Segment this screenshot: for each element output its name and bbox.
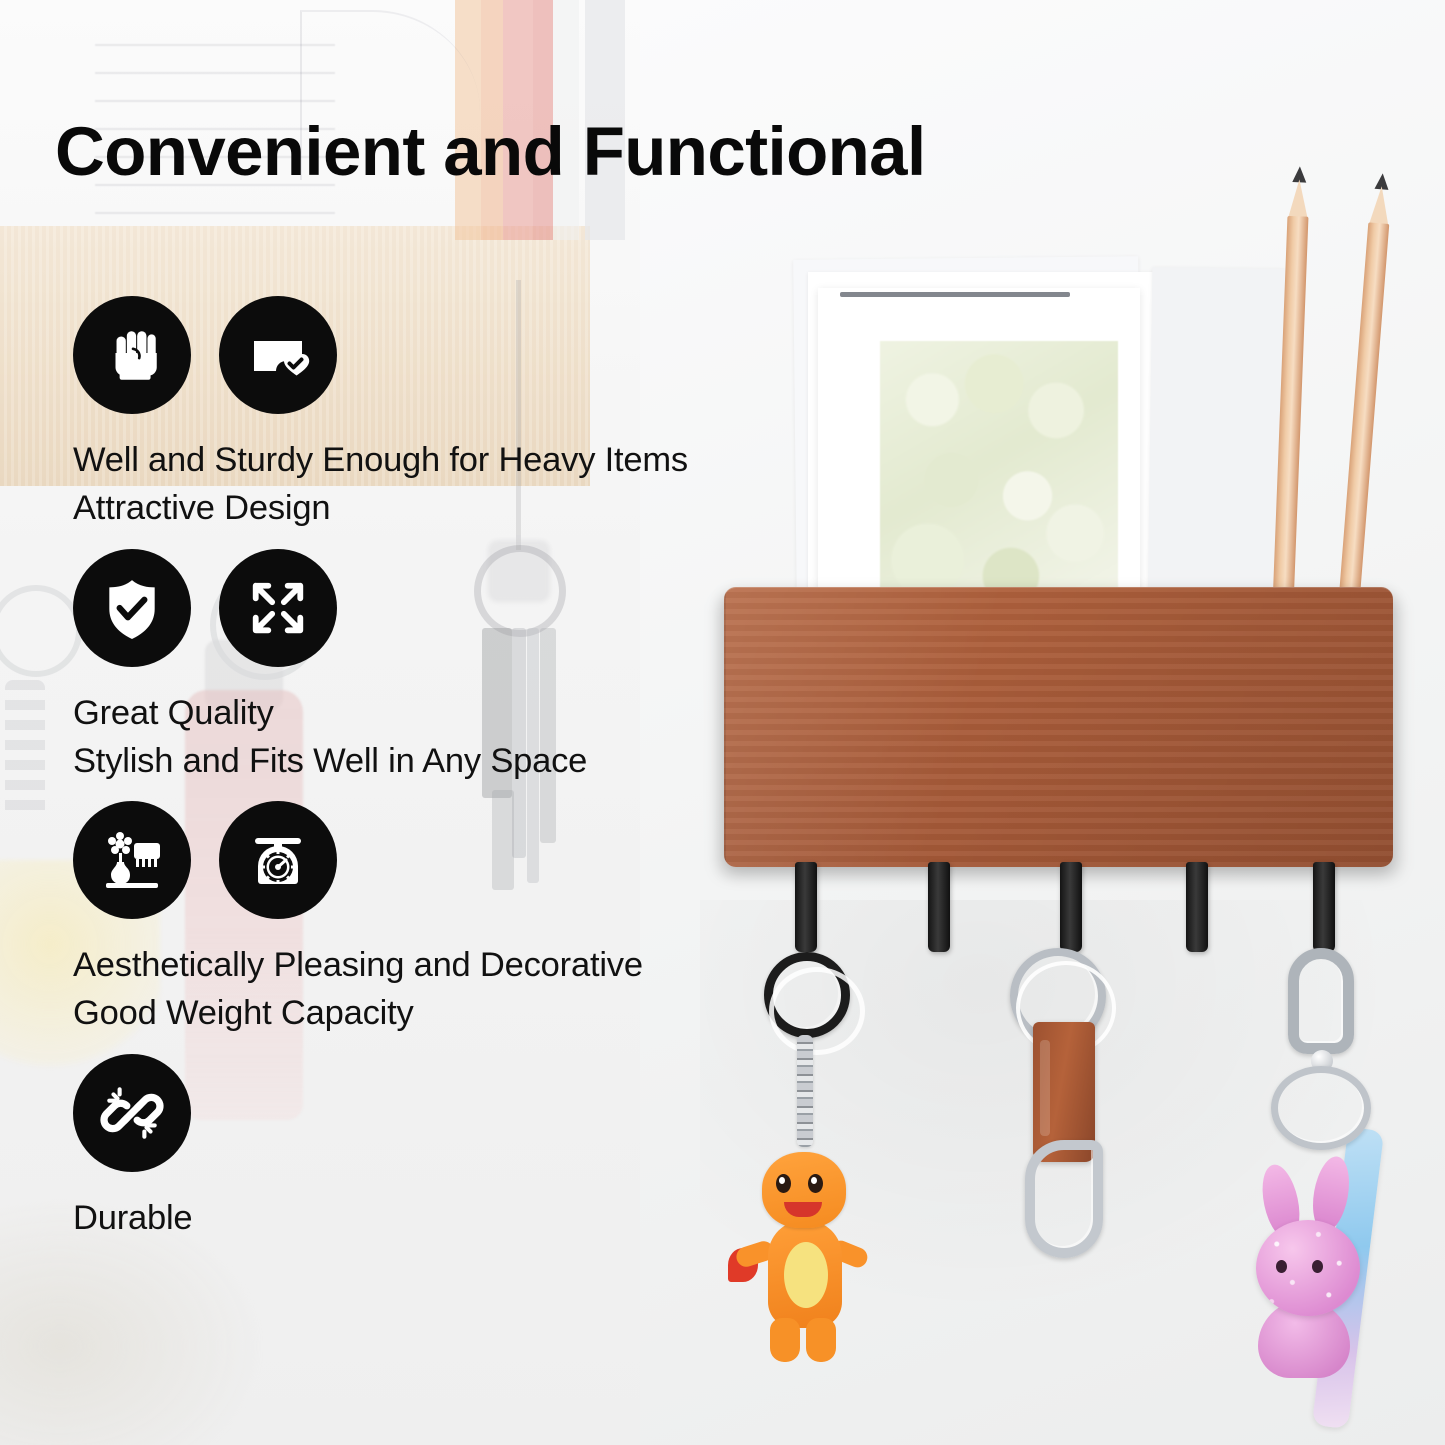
keyring-silver	[1271, 1066, 1371, 1150]
feature-item-decorative-capacity: Aesthetically Pleasing and Decorative Go…	[0, 801, 640, 1038]
bunny-eye	[1312, 1260, 1323, 1273]
infographic-stage: Convenient and Functional	[0, 0, 1445, 1445]
character-eye	[776, 1174, 791, 1193]
orange-character-keychain	[722, 1140, 872, 1380]
feature-icon-row	[0, 296, 640, 414]
key-hook	[1060, 862, 1082, 952]
frame-top-edge	[840, 292, 1070, 297]
character-leg	[770, 1318, 800, 1362]
shield-check-icon	[73, 549, 191, 667]
lobster-clasp	[1288, 948, 1354, 1054]
key-hook	[1186, 862, 1208, 952]
pink-glitter-bunny-keychain	[1238, 1150, 1388, 1380]
key-hook	[928, 862, 950, 952]
keyring-black	[764, 952, 850, 1038]
feature-text: Great Quality Stylish and Fits Well in A…	[0, 689, 640, 786]
feature-icon-row	[0, 1054, 640, 1172]
character-eye	[808, 1174, 823, 1193]
expand-arrows-icon	[219, 549, 337, 667]
feature-icon-row	[0, 801, 640, 919]
page-title: Convenient and Functional	[55, 112, 926, 191]
feature-line: Good Weight Capacity	[73, 989, 640, 1037]
feature-line: Well and Sturdy Enough for Heavy Items	[73, 436, 640, 484]
feature-line: Stylish and Fits Well in Any Space	[73, 737, 640, 785]
feature-list: Well and Sturdy Enough for Heavy Items A…	[0, 296, 640, 1254]
character-leg	[806, 1318, 836, 1362]
key-hook	[795, 862, 817, 952]
card-check-icon	[219, 296, 337, 414]
feature-line: Aesthetically Pleasing and Decorative	[73, 941, 640, 989]
keychain-chain	[797, 1035, 813, 1147]
feature-text: Durable	[0, 1194, 640, 1242]
background-paper	[1148, 267, 1288, 609]
glitter-sparkle	[1256, 1220, 1360, 1316]
feature-line: Great Quality	[73, 689, 640, 737]
fist-icon	[73, 296, 191, 414]
carabiner-clip	[1025, 1140, 1103, 1258]
feature-item-quality-fit: Great Quality Stylish and Fits Well in A…	[0, 549, 640, 786]
pencil-tip	[1288, 179, 1310, 220]
feature-icon-row	[0, 549, 640, 667]
feature-text: Aesthetically Pleasing and Decorative Go…	[0, 941, 640, 1038]
key-hook	[1313, 862, 1335, 952]
weight-scale-icon	[219, 801, 337, 919]
frame-artwork	[880, 341, 1118, 608]
feature-item-durable: Durable	[0, 1054, 640, 1242]
vase-shelf-icon	[73, 801, 191, 919]
bunny-head	[1256, 1220, 1360, 1316]
chain-link-icon	[73, 1054, 191, 1172]
wooden-key-holder	[724, 587, 1393, 867]
feature-text: Well and Sturdy Enough for Heavy Items A…	[0, 436, 640, 533]
character-belly	[784, 1242, 828, 1308]
photo-frame	[818, 288, 1140, 608]
pencil-tip	[1369, 186, 1392, 227]
feature-line: Attractive Design	[73, 484, 640, 532]
feature-item-sturdy-design: Well and Sturdy Enough for Heavy Items A…	[0, 296, 640, 533]
feature-line: Durable	[73, 1194, 640, 1242]
bunny-eye	[1276, 1260, 1287, 1273]
